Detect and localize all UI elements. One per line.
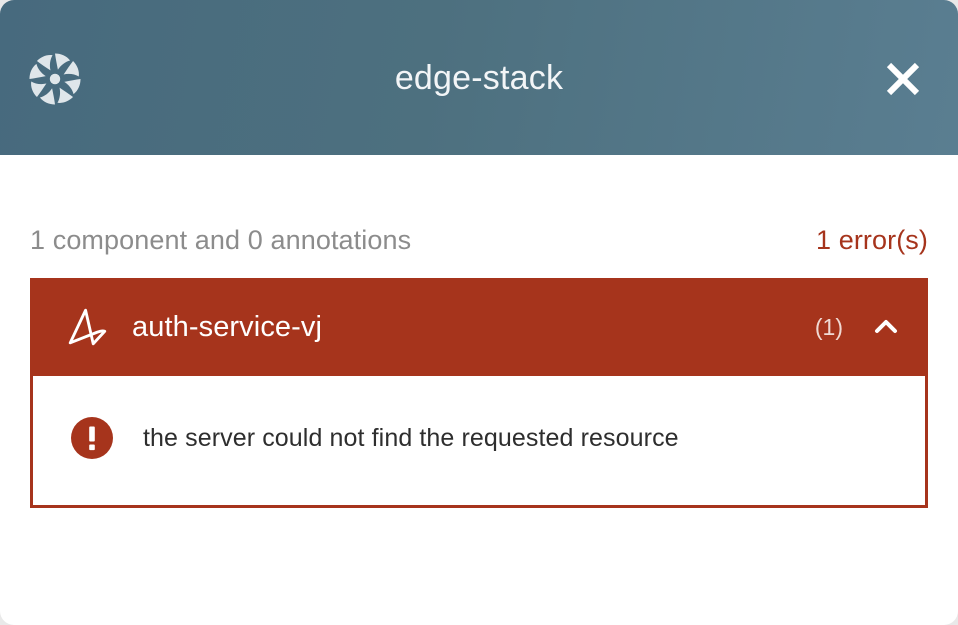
component-card: auth-service-vj (1) <box>30 278 928 508</box>
error-count-label: 1 error(s) <box>816 225 928 256</box>
error-exclamation-icon <box>71 417 113 459</box>
component-card-header[interactable]: auth-service-vj (1) <box>30 278 928 376</box>
summary-row: 1 component and 0 annotations 1 error(s) <box>30 155 928 278</box>
dialog-window: edge-stack 1 component and 0 annotations… <box>0 0 958 625</box>
window-titlebar: edge-stack <box>0 0 958 155</box>
emissary-a-icon <box>64 304 110 350</box>
dialog-content: 1 component and 0 annotations 1 error(s)… <box>0 155 958 508</box>
page-background: edge-stack 1 component and 0 annotations… <box>0 0 958 625</box>
error-message-text: the server could not find the requested … <box>143 424 679 453</box>
component-error-count: (1) <box>815 314 843 341</box>
error-row: the server could not find the requested … <box>33 417 925 459</box>
page-title: edge-stack <box>0 50 958 106</box>
component-summary-label: 1 component and 0 annotations <box>30 225 411 256</box>
chevron-up-icon[interactable] <box>871 312 901 342</box>
component-card-body: the server could not find the requested … <box>33 373 925 505</box>
component-name-label: auth-service-vj <box>132 311 815 344</box>
close-icon[interactable] <box>880 56 926 102</box>
